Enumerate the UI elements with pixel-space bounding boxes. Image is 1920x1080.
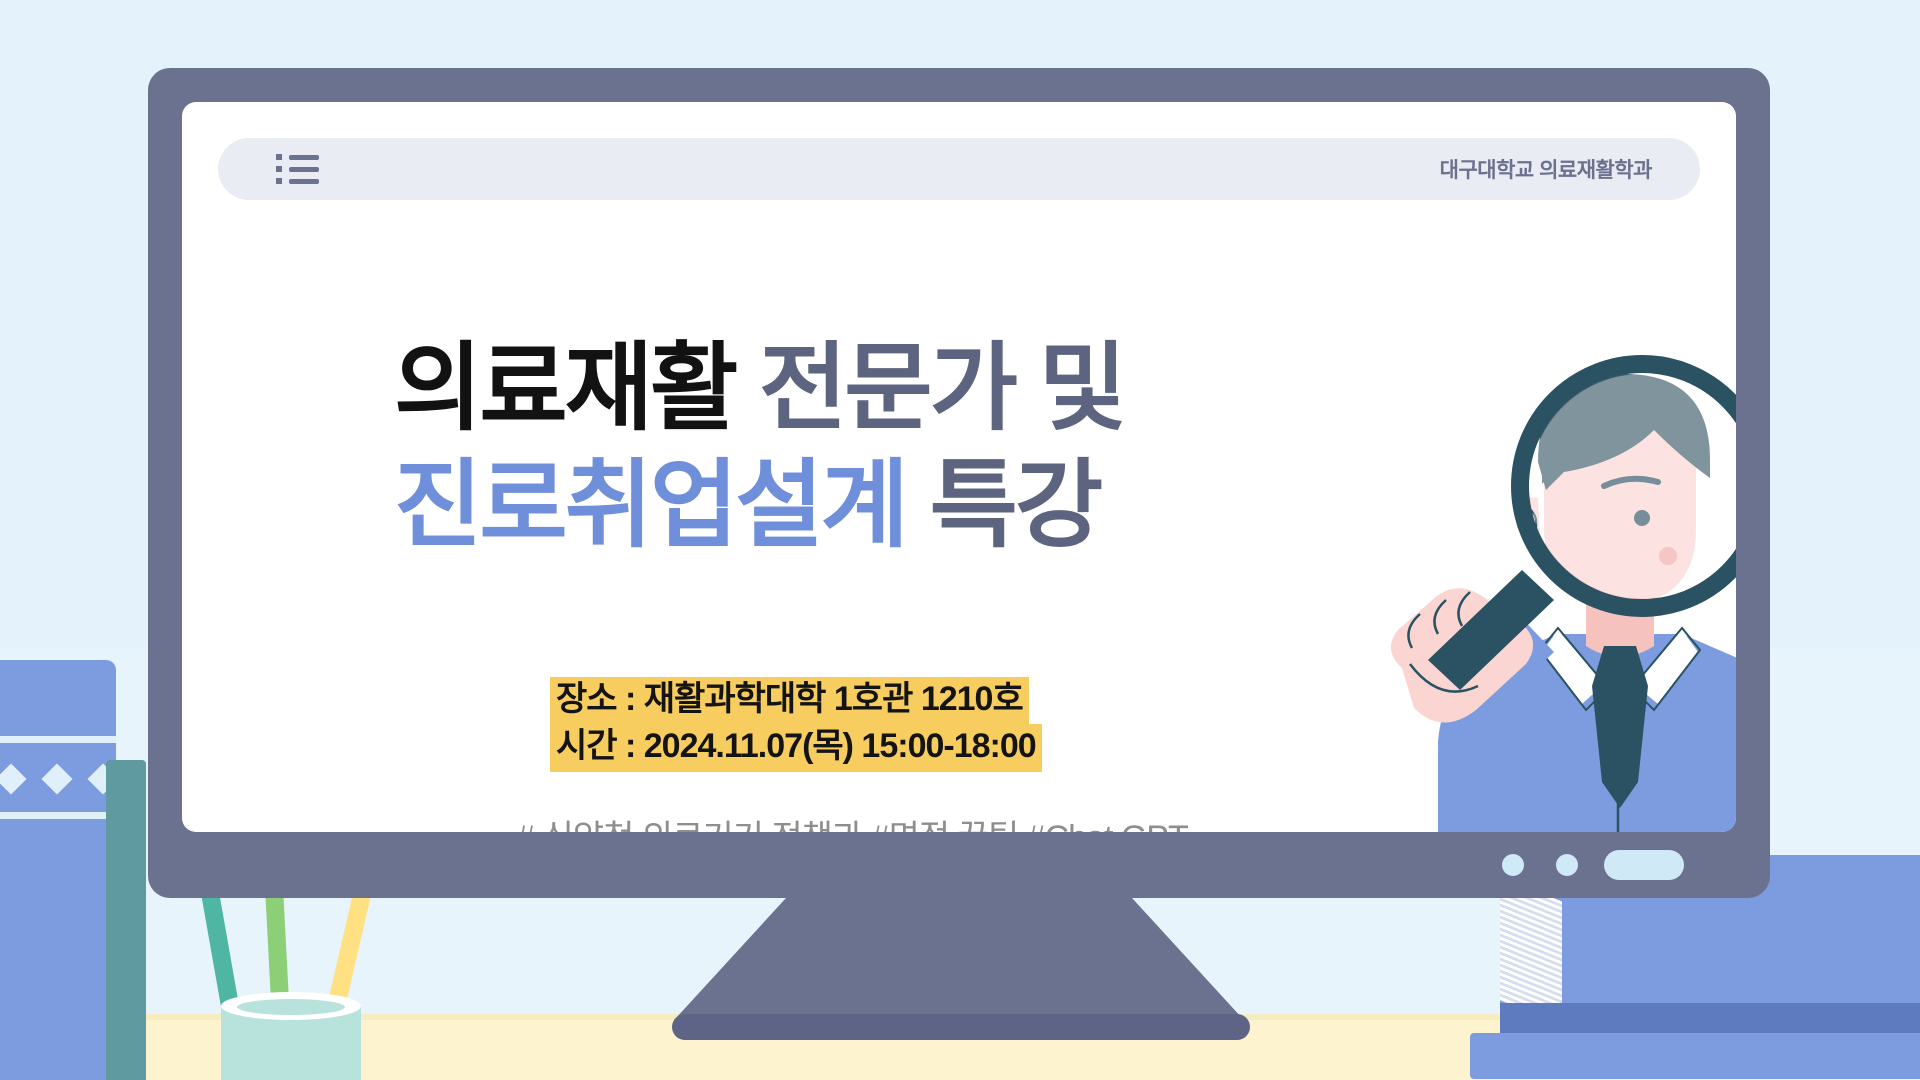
book-diamond-pattern	[0, 760, 116, 800]
scene-background: 대구대학교 의료재활학과 의료재활 전문가 및 진로취업설계 특강 장소 : 재…	[0, 0, 1920, 1080]
hashtag-line-1: # 식약청 의료기기 정책과 #면접 꿀팁 #Chat GPT	[412, 812, 1292, 832]
title-emphasis-1: 의료재활	[394, 335, 735, 442]
slide-topbar: 대구대학교 의료재활학과	[218, 138, 1700, 200]
title-emphasis-2: 진로취업설계	[394, 452, 906, 559]
book-body	[1500, 885, 1920, 1015]
title-rest-2: 특강	[906, 452, 1100, 559]
detail-row-time: 시간 : 2024.11.07(목) 15:00-18:00	[550, 724, 1350, 771]
decor-left-book-thin	[106, 760, 146, 1080]
power-indicator	[1604, 850, 1684, 880]
book-stripe	[0, 736, 116, 743]
illustration-man-with-magnifying-glass	[1342, 312, 1736, 832]
detail-row-location: 장소 : 재활과학대학 1호관 1210호	[550, 677, 1350, 724]
detail-location-text: 장소 : 재활과학대학 1호관 1210호	[550, 677, 1029, 724]
page-title: 의료재활 전문가 및 진로취업설계 특강	[394, 330, 1394, 564]
department-label: 대구대학교 의료재활학과	[1440, 154, 1652, 184]
title-line-1: 의료재활 전문가 및	[394, 330, 1394, 447]
cup-rim-inner	[237, 999, 345, 1015]
indicator-dot	[1502, 854, 1524, 876]
monitor-bezel-bottom	[182, 832, 1736, 898]
monitor-screen: 대구대학교 의료재활학과 의료재활 전문가 및 진로취업설계 특강 장소 : 재…	[182, 102, 1736, 832]
decor-left-book	[0, 660, 116, 1080]
monitor-frame: 대구대학교 의료재활학과 의료재활 전문가 및 진로취업설계 특강 장소 : 재…	[148, 68, 1770, 898]
indicator-dot	[1556, 854, 1578, 876]
title-rest-1: 전문가 및	[735, 335, 1124, 442]
list-bullet-icon[interactable]	[276, 154, 319, 184]
detail-time-text: 시간 : 2024.11.07(목) 15:00-18:00	[550, 724, 1042, 771]
monitor-stand-base	[672, 1014, 1250, 1040]
poster-slide: 대구대학교 의료재활학과 의료재활 전문가 및 진로취업설계 특강 장소 : 재…	[182, 102, 1736, 832]
title-line-2: 진로취업설계 특강	[394, 447, 1394, 564]
event-details: 장소 : 재활과학대학 1호관 1210호 시간 : 2024.11.07(목)…	[550, 677, 1350, 772]
hashtag-block: # 식약청 의료기기 정책과 #면접 꿀팁 #Chat GPT #진로취업설계 …	[412, 812, 1292, 832]
book-edge	[1500, 1003, 1920, 1037]
book-stripe	[0, 812, 116, 819]
book-bottom-cover	[1470, 1033, 1920, 1079]
